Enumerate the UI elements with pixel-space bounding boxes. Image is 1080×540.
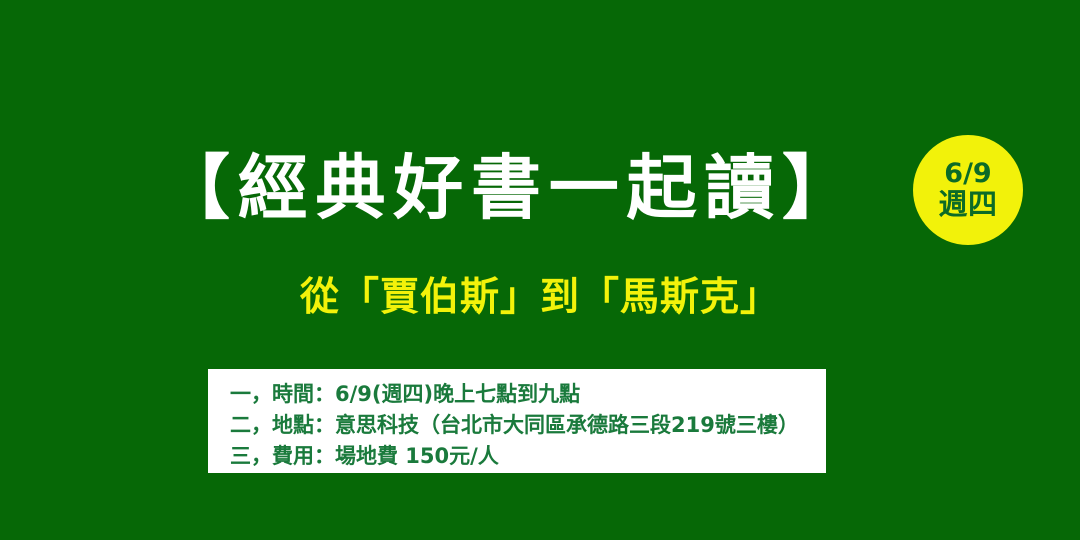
title-char-1: 經 [238, 153, 308, 223]
title-char-5: 一 [549, 153, 619, 223]
title-char-3: 好 [393, 153, 463, 223]
info-box: 一，時間：6/9(週四)晚上七點到九點 二，地點：意思科技（台北市大同區承德路三… [208, 369, 826, 473]
page-title: 【 經 典 好 書 一 起 讀 】 [160, 138, 852, 238]
info-line-time: 一，時間：6/9(週四)晚上七點到九點 [230, 379, 826, 410]
badge-weekday-label: 週四 [938, 188, 997, 220]
title-close-bracket: 】 [782, 153, 852, 223]
badge-date-label: 6/9 [944, 159, 991, 188]
title-char-7: 讀 [704, 153, 774, 223]
date-badge: 6/9 週四 [913, 135, 1023, 245]
event-poster: 【 經 典 好 書 一 起 讀 】 6/9 週四 從「賈伯斯」到「馬斯克」 一，… [0, 0, 1080, 540]
title-char-4: 書 [471, 153, 541, 223]
info-line-fee: 三，費用：場地費 150元/人 [230, 441, 826, 472]
subtitle: 從「賈伯斯」到「馬斯克」 [0, 277, 1080, 320]
info-line-location: 二，地點：意思科技（台北市大同區承德路三段219號三樓） [230, 410, 826, 441]
title-char-2: 典 [316, 153, 386, 223]
title-open-bracket: 【 [160, 153, 230, 223]
title-char-6: 起 [627, 153, 697, 223]
